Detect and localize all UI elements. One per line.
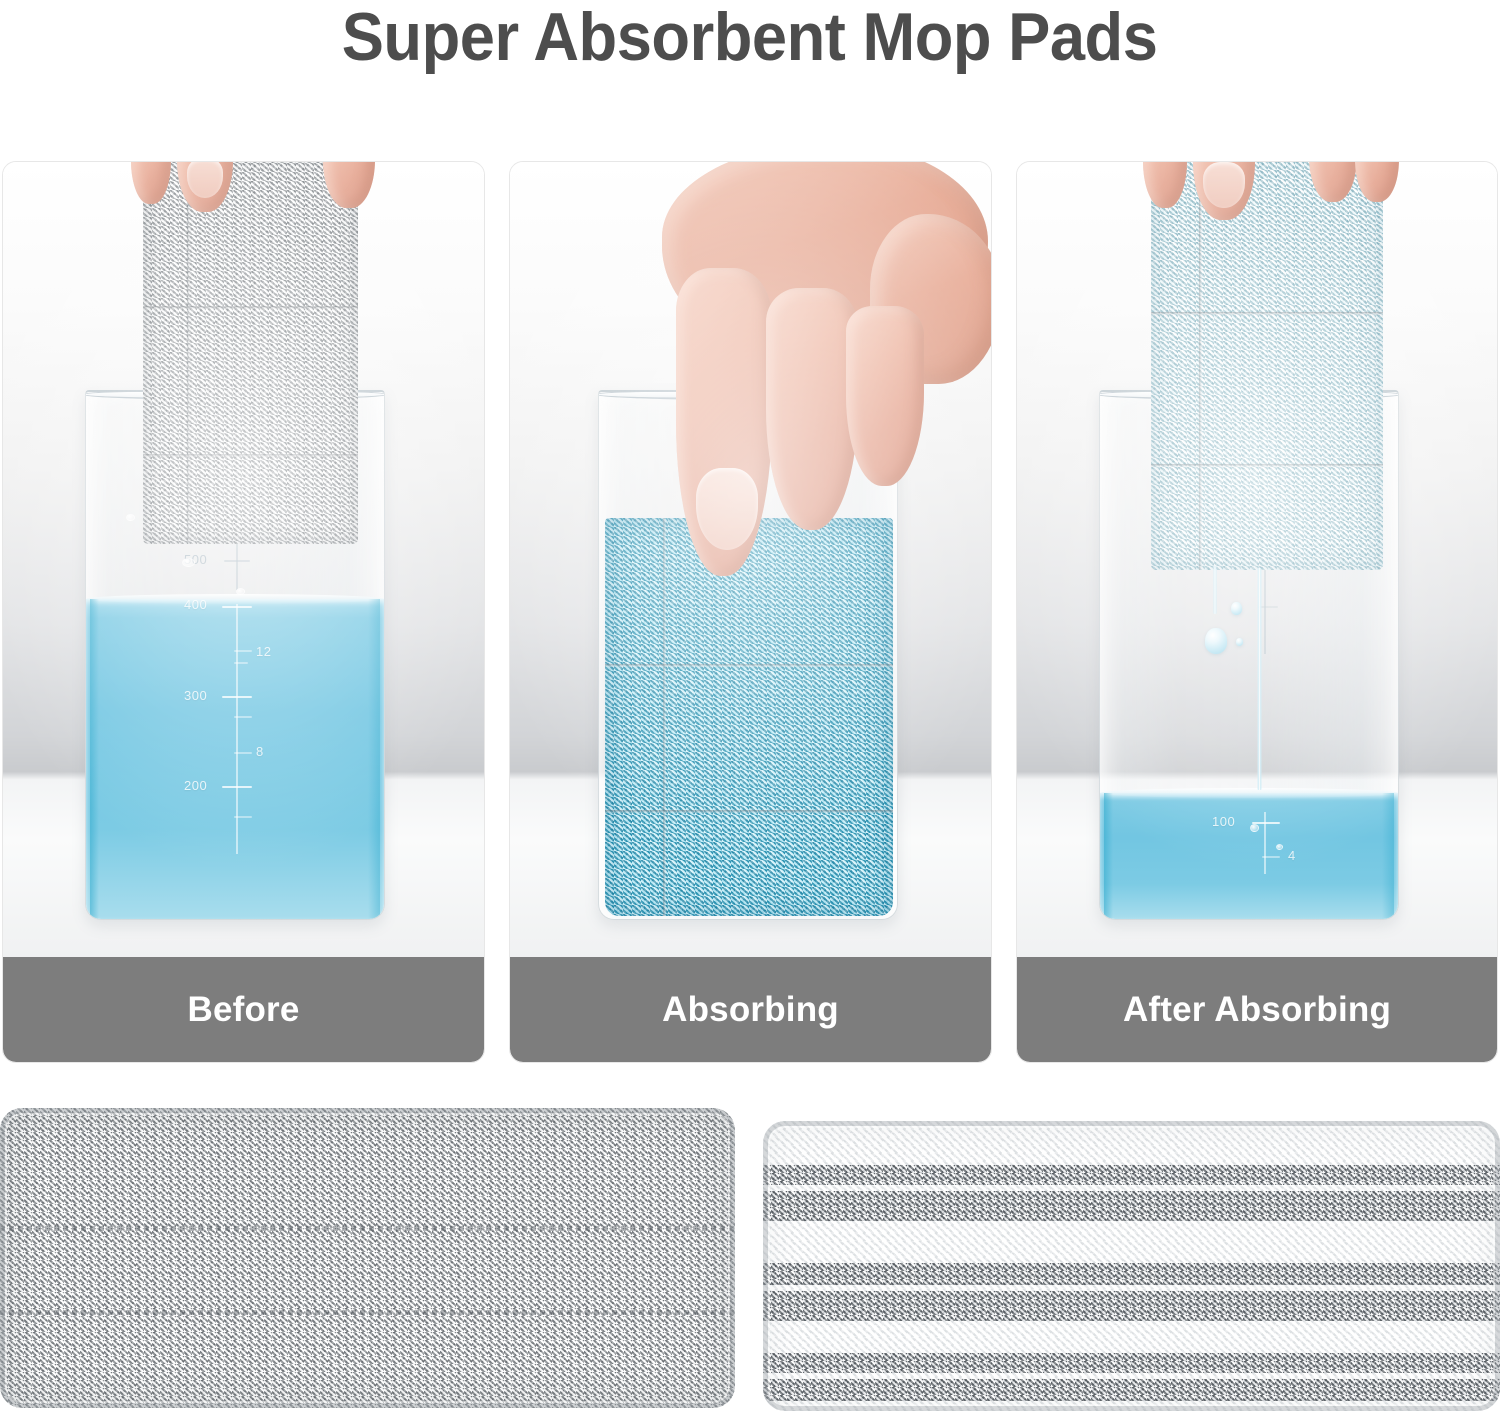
scrub-stripe	[763, 1165, 1500, 1185]
photo-after-absorbing: 100 4	[1017, 162, 1497, 959]
header-banner: Super Absorbent Mop Pads	[0, 0, 1500, 140]
scrub-stripe	[763, 1191, 1500, 1221]
photo-before: 500 400 12 300 8 200	[3, 162, 484, 959]
condensation-bubble	[182, 558, 195, 567]
scrub-stripe	[763, 1291, 1500, 1321]
liquid-edge-right	[368, 599, 380, 919]
pad-seam	[143, 454, 358, 457]
condensation-bubble	[1276, 844, 1283, 850]
condensation-bubble	[236, 588, 245, 595]
pad-seam	[605, 810, 893, 813]
liquid-after	[1100, 793, 1398, 919]
caption-bar-before: Before	[3, 957, 484, 1062]
pad-seam	[1151, 312, 1383, 315]
water-droplet	[1205, 628, 1227, 654]
beaker-rim	[598, 390, 898, 400]
drip-stream	[1257, 568, 1262, 790]
pad-stitch-line	[0, 1226, 735, 1231]
condensation-bubble	[817, 510, 823, 515]
pad-seam	[1151, 464, 1383, 467]
liquid-before	[86, 599, 384, 919]
mop-pad-saturated	[605, 518, 893, 916]
beaker-scale-dry: 500	[184, 544, 314, 594]
liquid-edge-right	[1382, 793, 1394, 919]
caption-label: After Absorbing	[1123, 990, 1391, 1030]
pad-seam	[143, 306, 358, 309]
scrub-stripe	[763, 1263, 1500, 1285]
scrub-stripe	[763, 1353, 1500, 1373]
liquid-edge-left	[1104, 793, 1113, 919]
product-photo-row	[0, 1108, 1500, 1413]
caption-label: Before	[187, 990, 299, 1030]
demo-panel-absorbing: Absorbing	[509, 161, 992, 1063]
thumb-base	[870, 214, 991, 384]
caption-label: Absorbing	[662, 990, 839, 1030]
pad-fold	[187, 162, 190, 544]
water-droplet-small	[1231, 602, 1242, 615]
condensation-bubble	[813, 476, 821, 483]
scrub-stripe	[763, 1379, 1500, 1401]
beaker-absorbing	[598, 390, 898, 920]
page-title: Super Absorbent Mop Pads	[342, 2, 1158, 73]
demo-panel-after-absorbing: 100 4	[1016, 161, 1498, 1063]
condensation-bubble	[1250, 824, 1259, 832]
caption-bar-after-absorbing: After Absorbing	[1017, 957, 1497, 1062]
pad-stitch-line	[0, 1310, 735, 1315]
condensation-bubble	[831, 496, 838, 502]
pad-seam	[605, 664, 893, 667]
photo-absorbing	[510, 162, 991, 959]
condensation-bubble	[126, 514, 135, 521]
demo-panel-before: 500 400 12 300 8 200	[2, 161, 485, 1063]
pad-edge-binding	[0, 1108, 735, 1408]
mop-pad-dry	[143, 162, 358, 544]
product-striped-mop-pad	[763, 1121, 1500, 1411]
water-droplet-tiny	[1236, 638, 1243, 646]
hand-back	[662, 162, 988, 356]
pad-fold	[1199, 162, 1202, 570]
caption-bar-absorbing: Absorbing	[510, 957, 991, 1062]
product-gray-mop-pad	[0, 1108, 735, 1408]
demo-panel-row: 500 400 12 300 8 200	[2, 161, 1498, 1063]
drip-stream-short	[1213, 566, 1217, 614]
mop-pad-damp	[1151, 162, 1383, 570]
liquid-edge-left	[90, 599, 99, 919]
pad-fold	[663, 518, 666, 916]
